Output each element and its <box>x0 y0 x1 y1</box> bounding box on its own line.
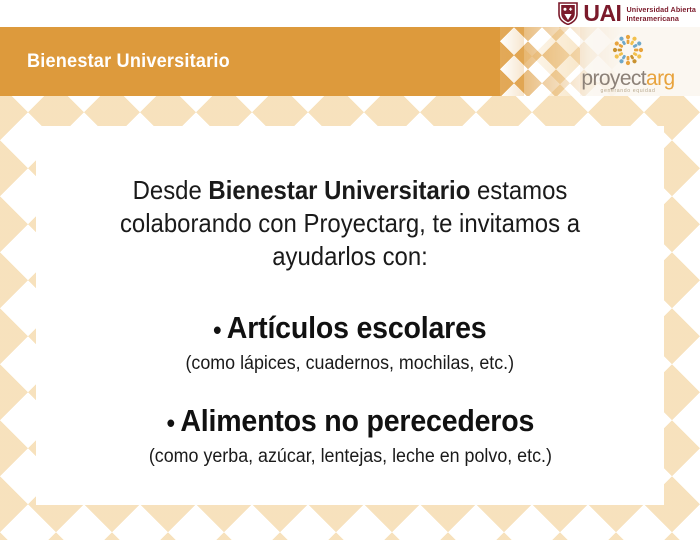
bullet-marker-icon: • <box>213 315 227 345</box>
bullet-2-title: Alimentos no perecederos <box>180 403 534 438</box>
bullet-1-title-row: •Artículos escolares <box>189 309 511 349</box>
uai-fullname: Universidad Abierta Interamericana <box>626 5 696 23</box>
bullet-2-title-row: •Alimentos no perecederos <box>153 402 547 442</box>
proyectarg-wordmark: proyectarg <box>581 68 674 89</box>
lead-prefix: Desde <box>133 175 209 205</box>
bullet-1-examples: (como lápices, cuadernos, mochilas, etc.… <box>186 352 515 376</box>
proyectarg-name-part1: proyect <box>581 67 646 90</box>
proyectarg-name-part2: arg <box>646 67 675 90</box>
lead-emphasis: Bienestar Universitario <box>208 175 470 205</box>
shield-crest-icon <box>558 2 578 25</box>
bullet-1-title: Artículos escolares <box>227 310 487 345</box>
top-logo-strip: UAI Universidad Abierta Interamericana <box>0 0 700 27</box>
uai-name-line-1: Universidad Abierta <box>626 5 696 14</box>
page-title: Bienestar Universitario <box>27 27 230 96</box>
slide-root: UAI Universidad Abierta Interamericana B… <box>0 0 700 540</box>
bullet-2-examples: (como yerba, azúcar, lentejas, leche en … <box>148 445 551 469</box>
proyectarg-logo: proyectarg generando equidad <box>564 28 692 96</box>
uai-logo: UAI Universidad Abierta Interamericana <box>558 0 696 27</box>
bullet-item-2: •Alimentos no perecederos (como yerba, a… <box>136 402 565 469</box>
sun-people-icon <box>608 30 648 70</box>
uai-acronym: UAI <box>583 2 621 25</box>
bullet-item-1: •Artículos escolares (como lápices, cuad… <box>175 309 525 376</box>
uai-name-line-2: Interamericana <box>626 14 696 23</box>
lead-paragraph: Desde Bienestar Universitario estamos co… <box>74 174 626 273</box>
proyectarg-tagline: generando equidad <box>601 88 656 95</box>
bullet-marker-icon: • <box>166 408 180 438</box>
content-card: Desde Bienestar Universitario estamos co… <box>36 126 664 505</box>
